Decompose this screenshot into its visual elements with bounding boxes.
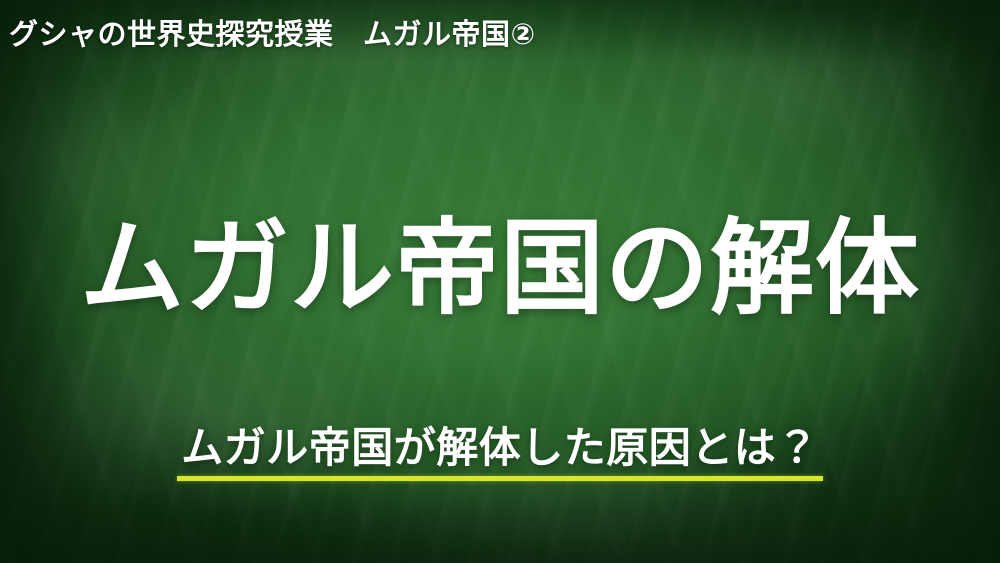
subtitle-underline <box>177 476 823 481</box>
slide-title: ムガル帝国の解体 <box>0 214 1000 324</box>
series-header: グシャの世界史探究授業 ムガル帝国② <box>9 11 536 53</box>
subtitle-text: ムガル帝国が解体した原因とは？ <box>181 424 819 471</box>
slide-canvas: グシャの世界史探究授業 ムガル帝国② ムガル帝国の解体 ムガル帝国が解体した原因… <box>0 0 1000 563</box>
slide-subtitle-question: ムガル帝国が解体した原因とは？ <box>177 424 823 481</box>
slide-content: グシャの世界史探究授業 ムガル帝国② ムガル帝国の解体 ムガル帝国が解体した原因… <box>0 0 1000 563</box>
subtitle-container: ムガル帝国が解体した原因とは？ <box>0 424 1000 481</box>
